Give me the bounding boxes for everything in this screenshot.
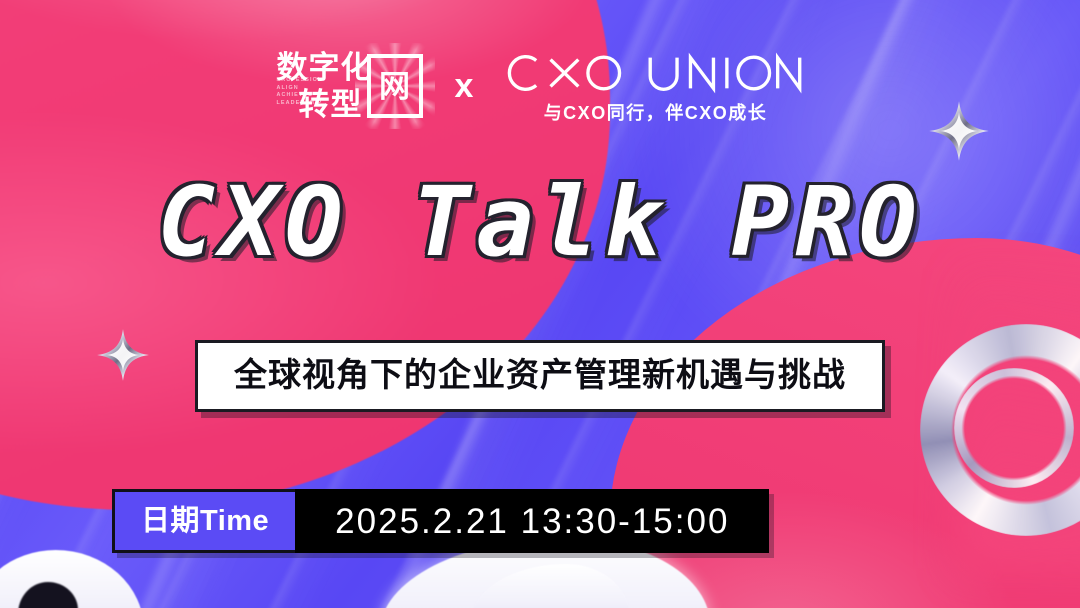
brand-logo-box-frame: 网	[367, 54, 423, 118]
brand-logo-shuzihua[interactable]: 数字化 转型 PROFESSION ALIGN ACHIEVES LEADERS…	[275, 46, 423, 126]
promo-poster: 数字化 转型 PROFESSION ALIGN ACHIEVES LEADERS…	[0, 0, 1080, 608]
chrome-ring-small-icon	[954, 368, 1074, 488]
date-label-text: 日期Time	[141, 507, 269, 536]
cxo-union-wordmark	[505, 50, 805, 96]
subtitle-text: 全球视角下的企业资产管理新机遇与挑战	[234, 356, 846, 394]
sparkle-star-icon	[96, 328, 150, 382]
date-bar: 日期Time 2025.2.21 13:30-15:00	[112, 489, 769, 553]
brand-logo-box-char: 网	[379, 71, 410, 102]
subtitle-box: 全球视角下的企业资产管理新机遇与挑战	[195, 340, 885, 412]
cxo-union-wordmark-svg	[505, 50, 805, 96]
brand-logo-cxo-union[interactable]: 与CXO同行，伴CXO成长	[505, 50, 805, 122]
cxo-union-tagline: 与CXO同行，伴CXO成长	[544, 104, 768, 122]
logo-row: 数字化 转型 PROFESSION ALIGN ACHIEVES LEADERS…	[0, 46, 1080, 126]
brand-logo-wang-box: 网	[367, 55, 423, 117]
date-value-box: 2025.2.21 13:30-15:00	[295, 489, 769, 553]
page-title: CXO Talk PRO	[0, 174, 1080, 270]
logo-separator-x: x	[455, 69, 474, 103]
date-value-text: 2025.2.21 13:30-15:00	[335, 504, 729, 539]
date-label-box: 日期Time	[112, 489, 295, 553]
subtitle-container: 全球视角下的企业资产管理新机遇与挑战	[195, 340, 885, 412]
